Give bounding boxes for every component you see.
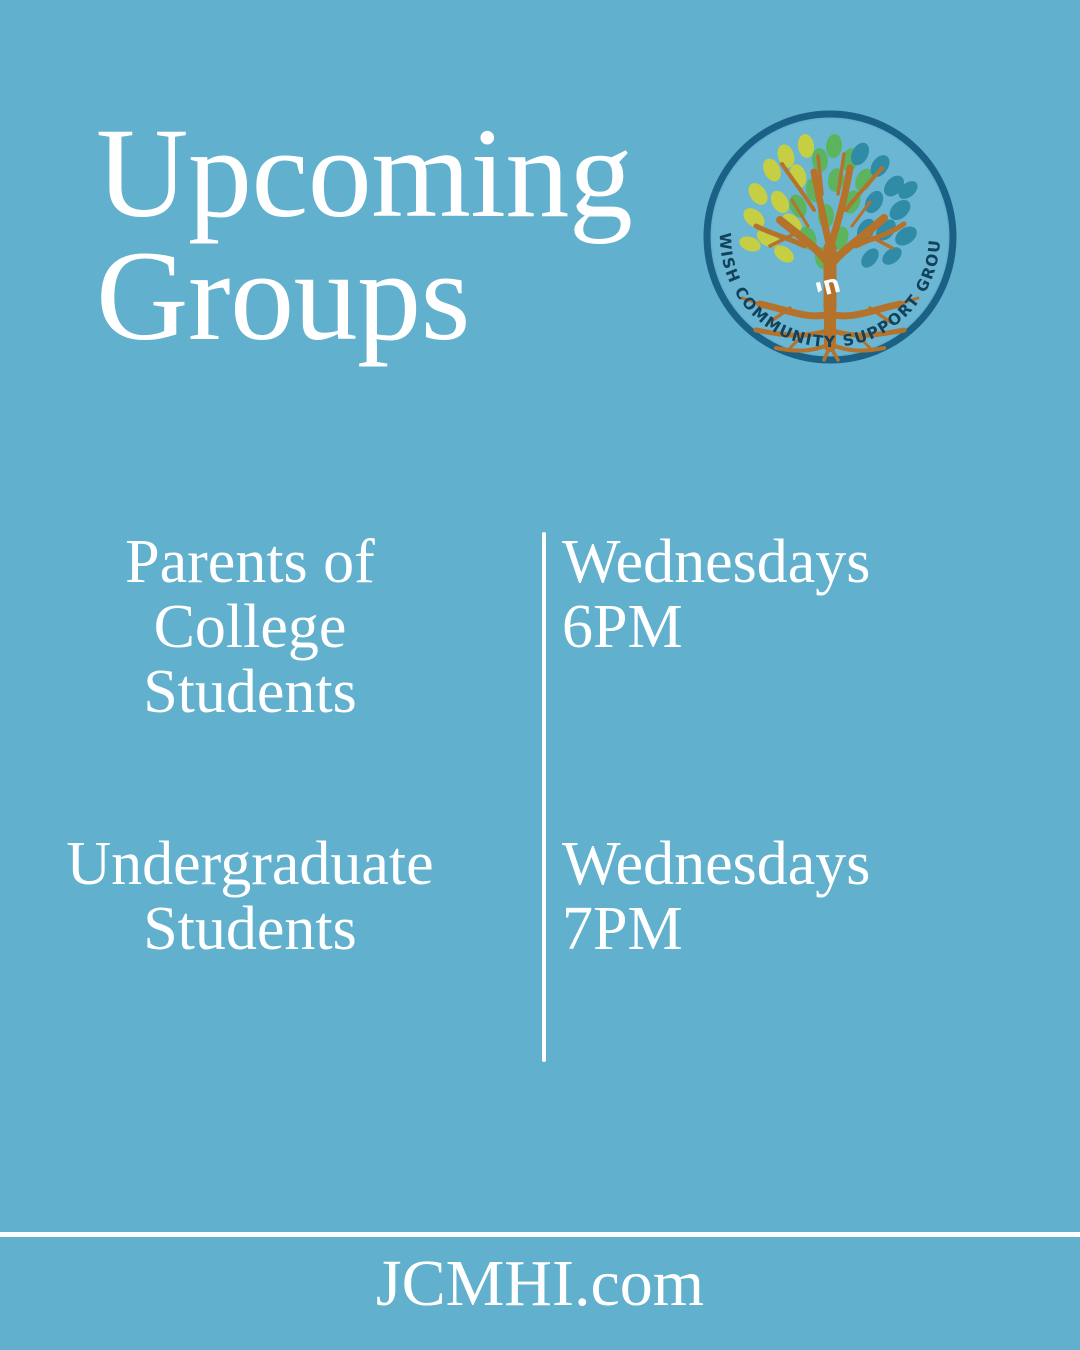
footer-divider xyxy=(0,1232,1080,1237)
group-name: Parents of College Students xyxy=(0,530,500,725)
schedule-row: Undergraduate Students Wednesdays 7PM xyxy=(0,832,1080,962)
group-time-day: Wednesdays xyxy=(562,530,1080,595)
organization-logo: חי JEWISH COMMUNITY SUPPORT GROUPS xyxy=(694,98,966,376)
poster-canvas: Upcoming Groups xyxy=(0,0,1080,1350)
group-name-line: Parents of xyxy=(0,530,500,595)
group-name-line: Students xyxy=(0,897,500,962)
group-time-hour: 6PM xyxy=(562,595,1080,660)
group-name-cell: Parents of College Students xyxy=(0,530,522,725)
group-time-day: Wednesdays xyxy=(562,832,1080,897)
group-time: Wednesdays 6PM xyxy=(562,530,1080,660)
group-time-hour: 7PM xyxy=(562,897,1080,962)
group-time-cell: Wednesdays 6PM xyxy=(522,530,1080,660)
group-name: Undergraduate Students xyxy=(0,832,500,962)
footer: JCMHI.com xyxy=(0,1248,1080,1321)
page-title-line-1: Upcoming xyxy=(96,112,696,235)
group-time: Wednesdays 7PM xyxy=(562,832,1080,962)
schedule-row: Parents of College Students Wednesdays 6… xyxy=(0,530,1080,725)
page-title-line-2: Groups xyxy=(96,235,696,358)
group-time-cell: Wednesdays 7PM xyxy=(522,832,1080,962)
header: Upcoming Groups xyxy=(0,0,1080,420)
group-name-line: Students xyxy=(0,660,500,725)
website-link[interactable]: JCMHI.com xyxy=(376,1247,704,1320)
schedule-section: Parents of College Students Wednesdays 6… xyxy=(0,520,1080,1080)
group-name-line: Undergraduate xyxy=(0,832,500,897)
group-name-cell: Undergraduate Students xyxy=(0,832,522,962)
page-title: Upcoming Groups xyxy=(96,112,696,358)
group-name-line: College xyxy=(0,595,500,660)
